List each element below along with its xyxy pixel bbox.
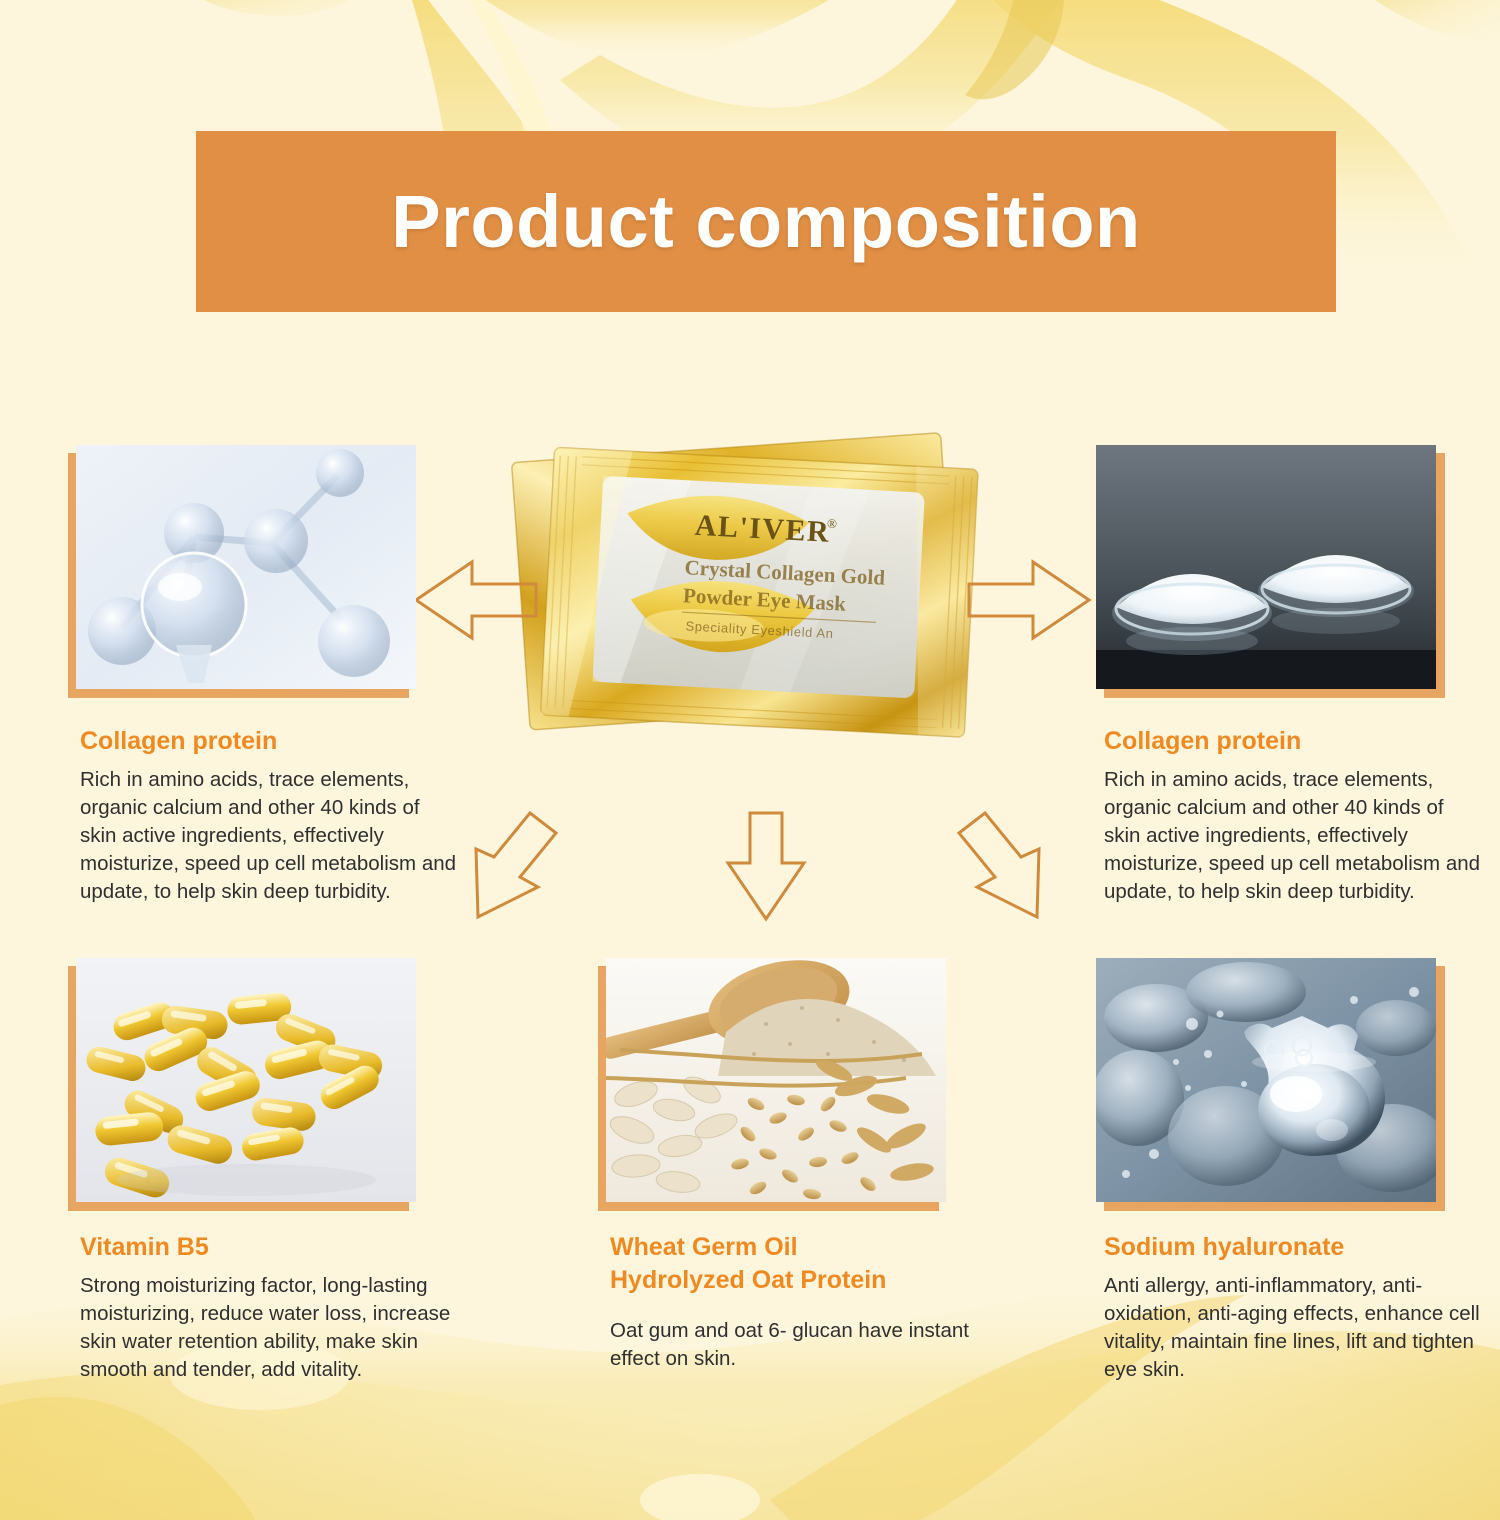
ingredient-image-collagen-protein-left: [68, 445, 417, 698]
ingredient-text-vitamin-b5: Vitamin B5 Strong moisturizing factor, l…: [80, 1232, 460, 1384]
arrow-right-icon: [962, 548, 1097, 653]
ingredient-image-sodium-hyaluronate: [1096, 958, 1445, 1211]
ingredient-title-line2: Hydrolyzed Oat Protein: [610, 1265, 990, 1296]
arrow-down-right-icon: [940, 805, 1055, 925]
ingredient-image-wheat-germ-oil: [598, 958, 947, 1211]
photo-molecule: [76, 445, 416, 689]
photo-water-droplets: [1096, 958, 1436, 1202]
frame-accent-bottom: [68, 1202, 409, 1211]
ingredient-body: Rich in amino acids, trace elements, org…: [1104, 766, 1484, 906]
ingredient-title: Vitamin B5: [80, 1232, 460, 1263]
ingredient-text-collagen-protein-left: Collagen protein Rich in amino acids, tr…: [80, 726, 460, 906]
frame-accent-right: [1436, 453, 1445, 697]
ingredient-image-collagen-protein-right: [1096, 445, 1445, 698]
ingredient-body: Anti allergy, anti-inflammatory, anti-ox…: [1104, 1272, 1484, 1384]
product-package-image: AL'IVER ® Crystal Collagen Gold Powder E…: [505, 410, 1005, 770]
photo-oats-grain: [606, 958, 946, 1202]
page-title-banner: Product composition: [196, 131, 1336, 312]
product-registered-mark: ®: [827, 516, 838, 532]
arrow-down-left-icon: [460, 805, 575, 925]
ingredient-text-wheat-germ-oil: Wheat Germ Oil Hydrolyzed Oat Protein Oa…: [610, 1232, 990, 1373]
photo-softgel-capsules: [76, 958, 416, 1202]
ingredient-title: Collagen protein: [80, 726, 460, 757]
frame-accent-right: [1436, 966, 1445, 1210]
frame-accent-bottom: [68, 689, 409, 698]
ingredient-body: Rich in amino acids, trace elements, org…: [80, 766, 460, 906]
frame-accent-bottom: [1104, 1202, 1445, 1211]
ingredient-image-vitamin-b5: [68, 958, 417, 1211]
arrow-left-icon: [408, 548, 543, 653]
page-title: Product composition: [391, 179, 1141, 264]
photo-powder-dishes: [1096, 445, 1436, 689]
ingredient-title: Wheat Germ Oil: [610, 1232, 990, 1263]
ingredient-title: Sodium hyaluronate: [1104, 1232, 1484, 1263]
frame-accent-bottom: [598, 1202, 939, 1211]
frame-accent-bottom: [1104, 689, 1445, 698]
arrow-down-icon: [716, 805, 816, 925]
ingredient-title: Collagen protein: [1104, 726, 1484, 757]
ingredient-text-collagen-protein-right: Collagen protein Rich in amino acids, tr…: [1104, 726, 1484, 906]
ingredient-text-sodium-hyaluronate: Sodium hyaluronate Anti allergy, anti-in…: [1104, 1232, 1484, 1384]
ingredient-body: Strong moisturizing factor, long-lasting…: [80, 1272, 460, 1384]
ingredient-body: Oat gum and oat 6- glucan have instant e…: [610, 1317, 990, 1373]
